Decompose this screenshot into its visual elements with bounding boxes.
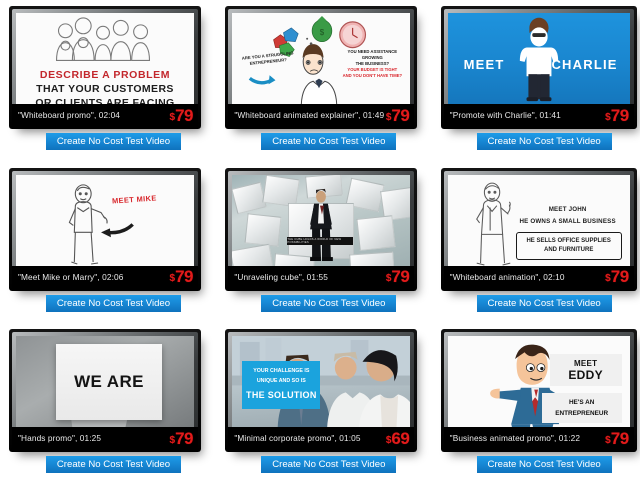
video-template-grid: DESCRIBE A PROBLEM THAT YOUR CUSTOMERS O… <box>0 0 640 485</box>
create-test-video-button[interactable]: Create No Cost Test Video <box>261 133 396 150</box>
video-card-hands-promo: WE ARE "Hands promo", 01:25 $ 79 Create … <box>0 323 213 485</box>
price-badge: $ 79 <box>605 268 628 285</box>
tv-frame: MEET JOHN HE OWNS A SMALL BUSINESS HE SE… <box>441 168 637 291</box>
video-thumbnail[interactable]: DESCRIBE A PROBLEM THAT YOUR CUSTOMERS O… <box>16 13 194 104</box>
video-card-promote-with-charlie: MEET CHARLIE "Promote with Charlie", 01:… <box>427 0 640 162</box>
video-title: "Promote with Charlie", 01:41 <box>450 110 561 120</box>
art-callout-box: HE SELLS OFFICE SUPPLIES AND FURNITURE <box>516 232 622 260</box>
price-badge: $ 79 <box>386 107 409 124</box>
art-left-word: MEET <box>464 57 505 72</box>
price-amount: 79 <box>611 430 629 447</box>
tv-frame: MEET EDDY HE'S AN ENTREPRENEUR "Business… <box>441 329 637 452</box>
video-thumbnail[interactable]: MEET CHARLIE <box>448 13 630 104</box>
tv-bezel: MEET MIKE "Meet Mike or Marry", 02:06 $ … <box>12 171 198 288</box>
art-callout-box-2: HE'S AN ENTREPRENEUR <box>542 393 622 423</box>
create-test-video-button[interactable]: Create No Cost Test Video <box>261 295 396 312</box>
price-amount: 79 <box>391 107 409 124</box>
art-right-line-5: AND YOU DON'T HAVE TIME? <box>338 73 406 79</box>
tv-bezel: MEET JOHN HE OWNS A SMALL BUSINESS HE SE… <box>444 171 634 288</box>
price-badge: $ 69 <box>386 430 409 447</box>
tv-frame: THE CUBE HOLDS A WORLD OF NEW POSSIBILIT… <box>225 168 417 291</box>
video-card-whiteboard-animated-explainer: $ ARE YOU A STRUGGLING ENTREPRENEUR? <box>213 0 426 162</box>
art-callout-box: YOUR CHALLENGE IS UNIQUE AND SO IS THE S… <box>242 361 320 409</box>
art-right-block: YOU NEED ASSISTANCE GROWING THE BUSINESS… <box>338 49 406 79</box>
video-title: "Minimal corporate promo", 01:05 <box>234 433 360 443</box>
tv-bezel: WE ARE "Hands promo", 01:25 $ 79 <box>12 332 198 449</box>
price-amount: 69 <box>391 430 409 447</box>
price-badge: $ 79 <box>170 430 193 447</box>
tv-frame: MEET CHARLIE "Promote with Charlie", 01:… <box>441 6 637 129</box>
create-test-video-button[interactable]: Create No Cost Test Video <box>477 456 612 473</box>
art-right-word: CHARLIE <box>551 57 617 72</box>
create-test-video-button[interactable]: Create No Cost Test Video <box>46 456 181 473</box>
tv-bezel: $ ARE YOU A STRUGGLING ENTREPRENEUR? <box>228 9 414 126</box>
price-amount: 79 <box>611 268 629 285</box>
video-title: "Unraveling cube", 01:55 <box>234 272 328 282</box>
svg-text:$: $ <box>320 28 325 37</box>
video-title: "Business animated promo", 01:22 <box>450 433 580 443</box>
price-amount: 79 <box>391 268 409 285</box>
price-badge: $ 79 <box>170 268 193 285</box>
art-line-2: UNIQUE AND SO IS <box>257 376 306 386</box>
art-line-2: THAT YOUR CUSTOMERS <box>16 83 194 95</box>
tv-bezel: MEET EDDY HE'S AN ENTREPRENEUR "Business… <box>444 332 634 449</box>
video-title: "Whiteboard animation", 02:10 <box>450 272 565 282</box>
art-box2-line-2: ENTREPRENEUR <box>555 408 608 420</box>
art-line-3: OR CLIENTS ARE FACING <box>16 97 194 104</box>
video-thumbnail[interactable]: YOUR CHALLENGE IS UNIQUE AND SO IS THE S… <box>232 336 410 427</box>
create-test-video-button[interactable]: Create No Cost Test Video <box>477 295 612 312</box>
tv-frame: DESCRIBE A PROBLEM THAT YOUR CUSTOMERS O… <box>9 6 201 129</box>
art-paper-text: WE ARE <box>74 372 144 392</box>
video-card-whiteboard-promo: DESCRIBE A PROBLEM THAT YOUR CUSTOMERS O… <box>0 0 213 162</box>
price-badge: $ 79 <box>386 268 409 285</box>
tv-bezel: DESCRIBE A PROBLEM THAT YOUR CUSTOMERS O… <box>12 9 198 126</box>
price-amount: 79 <box>611 107 629 124</box>
art-box-line-1: HE SELLS OFFICE SUPPLIES <box>526 237 610 246</box>
thumbnail-info-bar: "Meet Mike or Marry", 02:06 $ 79 <box>12 266 198 288</box>
video-title: "Meet Mike or Marry", 02:06 <box>18 272 123 282</box>
paper-sheet: WE ARE <box>56 344 162 420</box>
price-amount: 79 <box>175 430 193 447</box>
thumbnail-info-bar: "Unraveling cube", 01:55 $ 79 <box>228 266 414 288</box>
thumbnail-info-bar: "Minimal corporate promo", 01:05 $ 69 <box>228 427 414 449</box>
mike-sketch-icon <box>16 175 194 266</box>
art-callout-box-1: MEET EDDY <box>550 354 622 386</box>
art-box2-line-1: HE'S AN <box>569 397 594 409</box>
tv-frame: MEET MIKE "Meet Mike or Marry", 02:06 $ … <box>9 168 201 291</box>
thumbnail-info-bar: "Whiteboard animation", 02:10 $ 79 <box>444 266 634 288</box>
video-thumbnail[interactable]: $ ARE YOU A STRUGGLING ENTREPRENEUR? <box>232 13 410 104</box>
video-title: "Whiteboard animated explainer", 01:49 <box>234 110 384 120</box>
art-box1-line-2: EDDY <box>568 368 603 382</box>
art-box-line-2: AND FURNITURE <box>544 246 593 255</box>
video-thumbnail[interactable]: MEET JOHN HE OWNS A SMALL BUSINESS HE SE… <box>448 175 630 266</box>
thumbnail-info-bar: "Whiteboard promo", 02:04 $ 79 <box>12 104 198 126</box>
price-badge: $ 79 <box>605 430 628 447</box>
video-card-meet-mike-or-marry: MEET MIKE "Meet Mike or Marry", 02:06 $ … <box>0 162 213 324</box>
video-title: "Hands promo", 01:25 <box>18 433 101 443</box>
art-line-3: THE SOLUTION <box>246 387 317 404</box>
thumbnail-info-bar: "Promote with Charlie", 01:41 $ 79 <box>444 104 634 126</box>
tv-bezel: THE CUBE HOLDS A WORLD OF NEW POSSIBILIT… <box>228 171 414 288</box>
tv-frame: WE ARE "Hands promo", 01:25 $ 79 <box>9 329 201 452</box>
video-card-minimal-corporate-promo: YOUR CHALLENGE IS UNIQUE AND SO IS THE S… <box>213 323 426 485</box>
art-line-1: MEET JOHN <box>512 206 624 213</box>
video-card-business-animated-promo: MEET EDDY HE'S AN ENTREPRENEUR "Business… <box>427 323 640 485</box>
art-box1-line-1: MEET <box>574 359 597 368</box>
price-amount: 79 <box>175 107 193 124</box>
tv-frame: YOUR CHALLENGE IS UNIQUE AND SO IS THE S… <box>225 329 417 452</box>
businessman-figure-icon <box>232 175 410 266</box>
thumbnail-info-bar: "Whiteboard animated explainer", 01:49 $… <box>228 104 414 126</box>
create-test-video-button[interactable]: Create No Cost Test Video <box>261 456 396 473</box>
art-line-1: YOUR CHALLENGE IS <box>253 366 309 376</box>
video-card-unraveling-cube: THE CUBE HOLDS A WORLD OF NEW POSSIBILIT… <box>213 162 426 324</box>
video-thumbnail[interactable]: THE CUBE HOLDS A WORLD OF NEW POSSIBILIT… <box>232 175 410 266</box>
tv-bezel: YOUR CHALLENGE IS UNIQUE AND SO IS THE S… <box>228 332 414 449</box>
tv-frame: $ ARE YOU A STRUGGLING ENTREPRENEUR? <box>225 6 417 129</box>
create-test-video-button[interactable]: Create No Cost Test Video <box>46 295 181 312</box>
art-line-2: HE OWNS A SMALL BUSINESS <box>512 218 624 225</box>
create-test-video-button[interactable]: Create No Cost Test Video <box>477 133 612 150</box>
video-title: "Whiteboard promo", 02:04 <box>18 110 120 120</box>
art-line-1: DESCRIBE A PROBLEM <box>16 69 194 81</box>
video-thumbnail[interactable]: WE ARE <box>16 336 194 427</box>
price-badge: $ 79 <box>605 107 628 124</box>
thumbnail-info-bar: "Hands promo", 01:25 $ 79 <box>12 427 198 449</box>
video-card-whiteboard-animation: MEET JOHN HE OWNS A SMALL BUSINESS HE SE… <box>427 162 640 324</box>
create-test-video-button[interactable]: Create No Cost Test Video <box>46 133 181 150</box>
price-badge: $ 79 <box>170 107 193 124</box>
art-caption-strip: THE CUBE HOLDS A WORLD OF NEW POSSIBILIT… <box>287 237 353 245</box>
video-thumbnail[interactable]: MEET MIKE <box>16 175 194 266</box>
thumbnail-info-bar: "Business animated promo", 01:22 $ 79 <box>444 427 634 449</box>
video-thumbnail[interactable]: MEET EDDY HE'S AN ENTREPRENEUR <box>448 336 630 427</box>
price-amount: 79 <box>175 268 193 285</box>
tv-bezel: MEET CHARLIE "Promote with Charlie", 01:… <box>444 9 634 126</box>
